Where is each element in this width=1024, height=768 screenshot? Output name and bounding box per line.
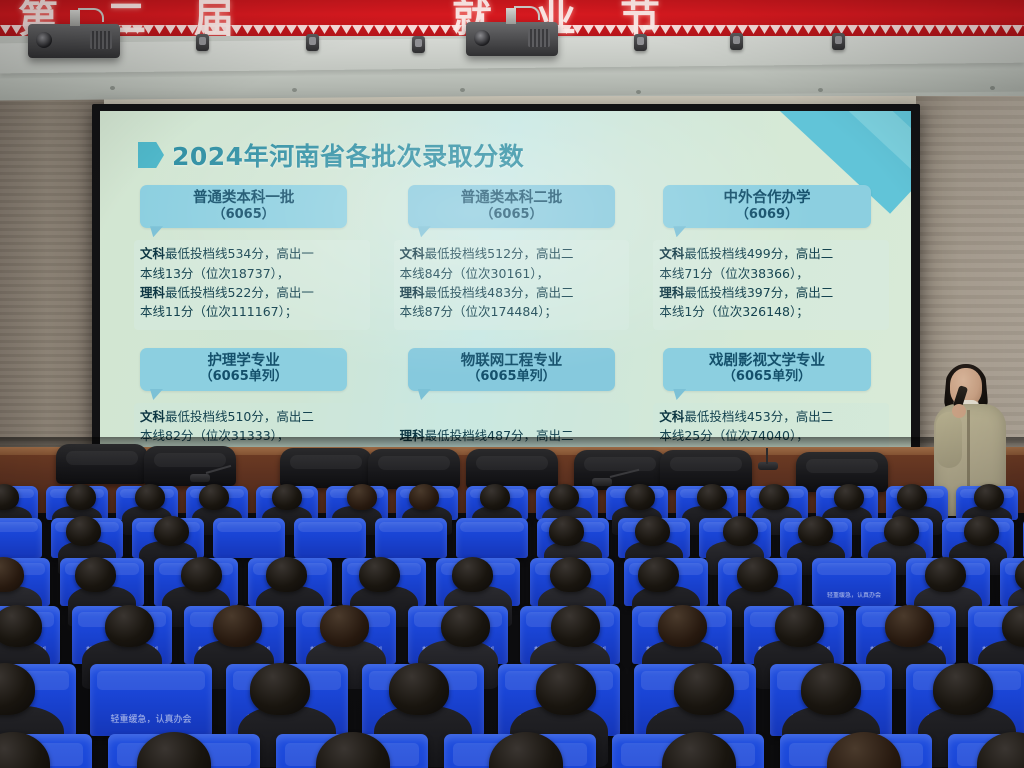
banner-zigzag-tooth xyxy=(297,25,308,34)
banner-zigzag-tooth xyxy=(242,25,253,34)
score-card-line: 理科最低投档线483分，高出二 xyxy=(400,283,624,302)
score-card-line: 文科最低投档线499分，高出二 xyxy=(659,244,883,263)
audience-member-head xyxy=(737,557,778,592)
banner-zigzag-tooth xyxy=(187,25,198,34)
score-card: 护理学专业（6065单列）文科最低投档线510分，高出二本线82分（位次3133… xyxy=(134,344,370,448)
score-card-line: 文科最低投档线534分，高出一 xyxy=(140,244,364,263)
score-card-subject-label: 文科 xyxy=(659,409,684,424)
score-card-title: 护理学专业 xyxy=(146,353,341,370)
banner-zigzag-tooth xyxy=(198,25,209,34)
slide-title: 2024年河南省各批次录取分数 xyxy=(172,137,524,173)
score-card-title: 普通类本科二批 xyxy=(414,190,609,207)
banner-zigzag-tooth xyxy=(396,25,407,34)
presenter-arm xyxy=(936,412,962,468)
banner-zigzag-tooth xyxy=(583,25,594,34)
banner-zigzag-tooth xyxy=(275,25,286,34)
banner-zigzag-tooth xyxy=(154,25,165,34)
chair-cover-text: 轻重缓急，认真办会 xyxy=(97,714,204,727)
score-card-header: 物联网工程专业（6065单列） xyxy=(408,348,615,391)
banner-zigzag-tooth xyxy=(693,25,704,34)
presenter-hand xyxy=(952,404,966,418)
banner-zigzag-tooth xyxy=(902,25,913,34)
pentagon-arrow-bullet-icon xyxy=(138,142,164,168)
score-card-line xyxy=(400,407,624,426)
banner-zigzag-tooth xyxy=(968,25,979,34)
score-card-subject-label: 理科 xyxy=(659,285,684,300)
score-card-line-text: 本线1分（位次326148）； xyxy=(659,304,808,319)
audience-member-head xyxy=(933,663,993,715)
auditorium-scene: 第二届 就业节 2024年河南省各批次录取分数 普通类本科一批（6065）文科最… xyxy=(0,0,1024,768)
score-card-line: 文科最低投档线512分，高出二 xyxy=(400,244,624,263)
score-card-header: 中外合作办学（6069） xyxy=(663,185,870,228)
banner-zigzag-tooth xyxy=(803,25,814,34)
score-card-line-text: 最低投档线512分，高出二 xyxy=(425,246,574,261)
audience-member-head xyxy=(75,557,116,592)
score-card-tail xyxy=(418,389,431,400)
score-card-line-text: 最低投档线397分，高出二 xyxy=(684,285,833,300)
score-card-line-text: 本线84分（位次30161）， xyxy=(400,266,549,281)
banner-zigzag-tooth xyxy=(165,25,176,34)
ceiling-spotlight-icon xyxy=(306,34,319,51)
banner-zigzag-tooth xyxy=(814,25,825,34)
audience-member-head xyxy=(213,605,262,647)
score-card-header: 戏剧影视文学专业（6065单列） xyxy=(663,348,870,391)
audience-member-head xyxy=(884,516,919,546)
score-card-line-text: 最低投档线499分，高出二 xyxy=(684,246,833,261)
banner-zigzag-tooth xyxy=(363,25,374,34)
audience-member-head xyxy=(885,605,934,647)
banner-zigzag-tooth xyxy=(605,25,616,34)
banner-zigzag-tooth xyxy=(176,25,187,34)
audience-member-head xyxy=(775,605,824,647)
audience-chair xyxy=(213,518,285,558)
banner-zigzag-tooth xyxy=(715,25,726,34)
audience-member-head xyxy=(480,484,510,510)
score-card-code: （6065单列） xyxy=(414,369,609,385)
audience-member-head xyxy=(0,605,42,647)
score-card-tail xyxy=(150,389,163,400)
banner-zigzag-tooth xyxy=(231,25,242,34)
banner-zigzag-tooth xyxy=(561,25,572,34)
banner-zigzag-tooth xyxy=(143,25,154,34)
audience-member-head xyxy=(320,605,369,647)
audience-chair: 轻重缓急，认真办会 xyxy=(812,558,896,606)
audience-chair xyxy=(0,518,42,558)
banner-zigzag-tooth xyxy=(429,25,440,34)
score-card-line-text: 本线13分（位次18737）， xyxy=(140,266,289,281)
score-card-line-text: 本线71分（位次38366）， xyxy=(659,266,808,281)
audience-member-head xyxy=(625,484,655,510)
audience-member-head xyxy=(551,605,600,647)
audience-member-head xyxy=(723,516,758,546)
audience-member-head xyxy=(658,605,707,647)
slide-title-row: 2024年河南省各批次录取分数 xyxy=(138,137,524,173)
score-card-subject-label: 文科 xyxy=(140,409,165,424)
banner-zigzag-tooth xyxy=(385,25,396,34)
audience-member-head xyxy=(266,557,307,592)
banner-zigzag-tooth xyxy=(132,25,143,34)
audience-member-head xyxy=(66,516,101,546)
banner-zigzag-tooth xyxy=(352,25,363,34)
projection-screen-bezel: 2024年河南省各批次录取分数 普通类本科一批（6065）文科最低投档线534分… xyxy=(92,104,920,456)
banner-zigzag-tooth xyxy=(946,25,957,34)
banner-zigzag-tooth xyxy=(869,25,880,34)
audience-seating: 轻重缓急，认真办会轻重缓急，认真办会轻重缓急，认真办会轻重缓急，认真办会轻重缓急… xyxy=(0,468,1024,768)
score-card: 中外合作办学（6069）文科最低投档线499分，高出二本线71分（位次38366… xyxy=(653,181,889,330)
score-card-title: 物联网工程专业 xyxy=(414,353,609,370)
score-card-line: 本线84分（位次30161）， xyxy=(400,264,624,283)
audience-member-head xyxy=(250,663,310,715)
score-card-code: （6065） xyxy=(414,207,609,223)
audience-chair xyxy=(456,518,528,558)
score-card-line-text: 最低投档线510分，高出二 xyxy=(165,409,314,424)
banner-zigzag-tooth xyxy=(748,25,759,34)
banner-zigzag-tooth xyxy=(572,25,583,34)
banner-zigzag-tooth xyxy=(979,25,990,34)
audience-member-head xyxy=(697,484,727,510)
projector-icon xyxy=(28,24,120,58)
score-card-line-text: 最低投档线534分，高出一 xyxy=(165,246,314,261)
banner-zigzag-tooth xyxy=(682,25,693,34)
ceiling-spotlight-icon xyxy=(412,36,425,53)
audience-member-head xyxy=(549,484,579,510)
banner-zigzag-tooth xyxy=(418,25,429,34)
audience-member-head xyxy=(801,663,861,715)
audience-member-head xyxy=(798,516,833,546)
score-card-line: 本线1分（位次326148）； xyxy=(659,302,883,321)
banner-zigzag-tooth xyxy=(341,25,352,34)
banner-zigzag-tooth xyxy=(759,25,770,34)
banner-zigzag-tooth xyxy=(1012,25,1023,34)
audience-member-head xyxy=(674,663,734,715)
score-card-subject-label: 文科 xyxy=(140,246,165,261)
banner-zigzag-tooth xyxy=(121,25,132,34)
score-card-subject-label: 理科 xyxy=(140,285,165,300)
score-card-body: 文科最低投档线499分，高出二本线71分（位次38366），理科最低投档线397… xyxy=(653,240,889,330)
banner-zigzag-tooth xyxy=(1001,25,1012,34)
score-card-tail xyxy=(673,226,686,237)
ceiling-spotlight-icon xyxy=(196,34,209,51)
score-card-tail xyxy=(150,226,163,237)
audience-member-head xyxy=(638,557,679,592)
banner-zigzag-tooth xyxy=(220,25,231,34)
score-card: 普通类本科一批（6065）文科最低投档线534分，高出一本线13分（位次1873… xyxy=(134,181,370,330)
audience-member-head xyxy=(359,557,400,592)
score-card-line: 理科最低投档线522分，高出一 xyxy=(140,283,364,302)
score-card-subject-label: 理科 xyxy=(400,285,425,300)
banner-zigzag-tooth xyxy=(253,25,264,34)
banner-zigzag-tooth xyxy=(319,25,330,34)
banner-zigzag-tooth xyxy=(330,25,341,34)
score-card-subject-label: 文科 xyxy=(659,246,684,261)
banner-zigzag-tooth xyxy=(374,25,385,34)
banner-zigzag-tooth xyxy=(451,25,462,34)
audience-member-head xyxy=(181,557,222,592)
score-card-line-text: 最低投档线483分，高出二 xyxy=(425,285,574,300)
score-card-line: 本线11分（位次111167）； xyxy=(140,302,364,321)
banner-zigzag-tooth xyxy=(11,25,22,34)
score-card-line: 文科最低投档线453分，高出二 xyxy=(659,407,883,426)
score-card-line-text xyxy=(400,409,404,424)
banner-zigzag-tooth xyxy=(913,25,924,34)
score-card-body: 文科最低投档线512分，高出二本线84分（位次30161），理科最低投档线483… xyxy=(394,240,630,330)
audience-member-head xyxy=(964,516,999,546)
score-card-code: （6069） xyxy=(669,207,864,223)
score-card: 普通类本科二批（6065）文科最低投档线512分，高出二本线84分（位次3016… xyxy=(394,181,630,330)
audience-member-head xyxy=(409,484,439,510)
audience-member-head xyxy=(974,484,1004,510)
score-card-code: （6065单列） xyxy=(146,369,341,385)
ceiling-spotlight-icon xyxy=(634,34,647,51)
banner-zigzag-tooth xyxy=(935,25,946,34)
banner-zigzag-tooth xyxy=(627,25,638,34)
audience-member-head xyxy=(66,484,96,510)
score-card-header: 护理学专业（6065单列） xyxy=(140,348,347,391)
banner-zigzag-tooth xyxy=(990,25,1001,34)
banner-zigzag-tooth xyxy=(858,25,869,34)
audience-member-head xyxy=(549,516,584,546)
audience-member-head xyxy=(272,484,302,510)
audience-chair xyxy=(375,518,447,558)
score-card-code: （6065单列） xyxy=(669,369,864,385)
score-card-line-text: 本线87分（位次174484）； xyxy=(400,304,557,319)
banner-zigzag-tooth xyxy=(891,25,902,34)
banner-zigzag-tooth xyxy=(660,25,671,34)
score-card-line: 文科最低投档线510分，高出二 xyxy=(140,407,364,426)
score-card-line: 本线87分（位次174484）； xyxy=(400,302,624,321)
audience-member-head xyxy=(389,663,449,715)
audience-member-head xyxy=(154,516,189,546)
score-card-line: 理科最低投档线397分，高出二 xyxy=(659,283,883,302)
banner-zigzag-tooth xyxy=(649,25,660,34)
audience-member-head xyxy=(925,557,966,592)
audience-chair xyxy=(294,518,366,558)
banner-zigzag-tooth xyxy=(957,25,968,34)
audience-member-head xyxy=(759,484,789,510)
banner-zigzag-tooth xyxy=(594,25,605,34)
projector-icon xyxy=(466,22,558,56)
banner-zigzag-tooth xyxy=(792,25,803,34)
banner-zigzag-tooth xyxy=(671,25,682,34)
audience-member-head xyxy=(897,484,927,510)
banner-zigzag-tooth xyxy=(924,25,935,34)
banner-zigzag-tooth xyxy=(0,25,11,34)
banner-zigzag-tooth xyxy=(770,25,781,34)
score-card-body: 文科最低投档线534分，高出一本线13分（位次18737），理科最低投档线522… xyxy=(134,240,370,330)
banner-zigzag-tooth xyxy=(880,25,891,34)
banner-zigzag-tooth xyxy=(781,25,792,34)
audience-member-head xyxy=(135,484,165,510)
presentation-slide: 2024年河南省各批次录取分数 普通类本科一批（6065）文科最低投档线534分… xyxy=(100,111,911,448)
audience-chair: 轻重缓急，认真办会 xyxy=(90,664,212,736)
score-card-title: 普通类本科一批 xyxy=(146,190,341,207)
score-card-line-text: 最低投档线453分，高出二 xyxy=(684,409,833,424)
audience-member-head xyxy=(105,605,154,647)
score-card-title: 戏剧影视文学专业 xyxy=(669,353,864,370)
score-card-header: 普通类本科一批（6065） xyxy=(140,185,347,228)
score-card-header: 普通类本科二批（6065） xyxy=(408,185,615,228)
banner-zigzag-tooth xyxy=(638,25,649,34)
score-card-line: 本线71分（位次38366）， xyxy=(659,264,883,283)
audience-member-head xyxy=(199,484,229,510)
score-card: 戏剧影视文学专业（6065单列）文科最低投档线453分，高出二本线25分（位次7… xyxy=(653,344,889,448)
score-card-code: （6065） xyxy=(146,207,341,223)
chair-cover-text: 轻重缓急，认真办会 xyxy=(817,592,891,601)
audience-member-head xyxy=(834,484,864,510)
banner-zigzag-tooth xyxy=(264,25,275,34)
score-card-line-text: 最低投档线522分，高出一 xyxy=(165,285,314,300)
banner-zigzag-tooth xyxy=(308,25,319,34)
audience-member-head xyxy=(635,516,670,546)
banner-zigzag-tooth xyxy=(286,25,297,34)
banner-zigzag-tooth xyxy=(847,25,858,34)
ceiling-lip xyxy=(0,70,1024,101)
banner-zigzag-tooth xyxy=(616,25,627,34)
score-card-line: 本线13分（位次18737）， xyxy=(140,264,364,283)
banner-zigzag-tooth xyxy=(704,25,715,34)
score-card-grid: 普通类本科一批（6065）文科最低投档线534分，高出一本线13分（位次1873… xyxy=(134,181,889,448)
score-card-tail xyxy=(418,226,431,237)
audience-member-head xyxy=(441,605,490,647)
banner-zigzag-tooth xyxy=(440,25,451,34)
ceiling-spotlight-icon xyxy=(730,33,743,50)
banner-zigzag-tooth xyxy=(407,25,418,34)
audience-member-head xyxy=(452,557,493,592)
score-card-line-text: 本线11分（位次111167）； xyxy=(140,304,297,319)
score-card-title: 中外合作办学 xyxy=(669,190,864,207)
ceiling-spotlight-icon xyxy=(832,33,845,50)
audience-member-head xyxy=(347,484,377,510)
score-card-subject-label: 文科 xyxy=(400,246,425,261)
score-card: 物联网工程专业（6065单列） 理科最低投档线487分，高出二本线91分（位次1… xyxy=(394,344,630,448)
banner-zigzag-tooth xyxy=(209,25,220,34)
score-card-tail xyxy=(673,389,686,400)
audience-member-head xyxy=(550,557,591,592)
audience-member-head xyxy=(536,663,596,715)
left-wood-panel xyxy=(0,88,104,480)
